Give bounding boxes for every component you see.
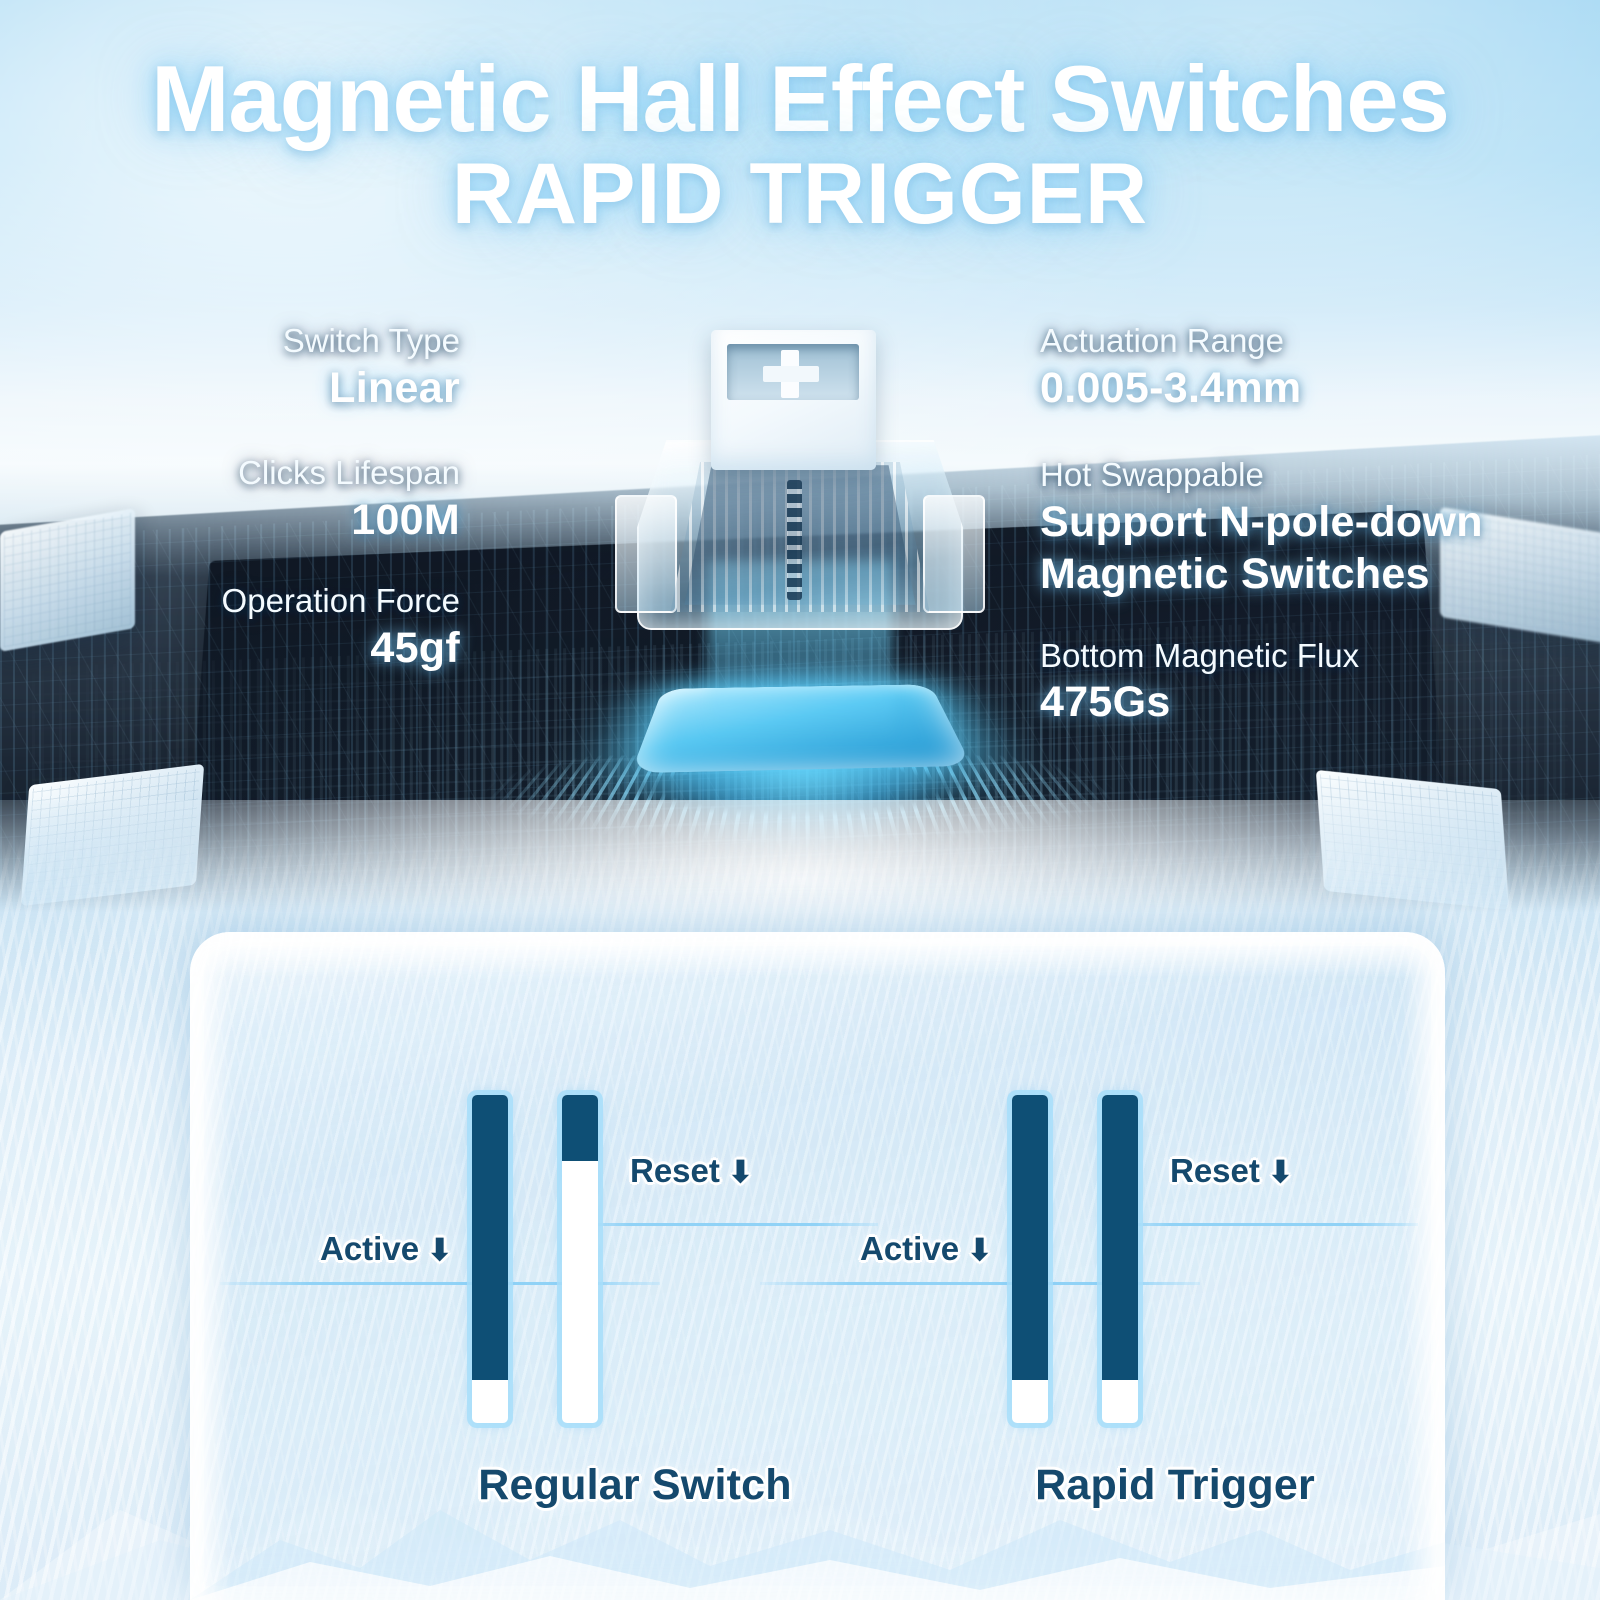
spec-label: Actuation Range [1040,320,1580,362]
bar-fill [1012,1095,1048,1380]
switch-stem-cross-horizontal [763,366,819,382]
reset-level-label-rapid: Reset⬇ [1170,1152,1293,1190]
active-label-text: Active [320,1230,419,1267]
group-title-regular-switch: Regular Switch [420,1461,850,1510]
active-level-label-rapid: Active⬇ [860,1230,992,1268]
chart-group-regular-switch: Active⬇ Reset⬇ Regular Switch [420,932,850,1600]
page-title: Magnetic Hall Effect Switches RAPID TRIG… [0,52,1600,241]
spec-label: Operation Force [30,580,460,622]
switch-housing-wing-left [615,495,677,613]
spec-operation-force: Operation Force 45gf [30,580,460,674]
group-title-rapid-trigger: Rapid Trigger [960,1461,1390,1510]
spec-value: 475Gs [1040,676,1580,728]
active-level-label-regular: Active⬇ [320,1230,452,1268]
active-label-text: Active [860,1230,959,1267]
bar-fill [562,1095,598,1161]
reset-label-text: Reset [1170,1152,1260,1189]
reset-label-text: Reset [630,1152,720,1189]
title-line-2: RAPID TRIGGER [0,148,1600,241]
hall-effect-switch [615,330,985,660]
spec-label: Clicks Lifespan [30,452,460,494]
chart-area: Active⬇ Reset⬇ Regular Switch Active⬇ [190,932,1445,1600]
bar-fill [1102,1095,1138,1380]
spec-actuation-range: Actuation Range 0.005-3.4mm [1040,320,1580,414]
arrow-down-icon: ⬇ [967,1234,992,1267]
spec-label: Hot Swappable [1040,454,1580,496]
spec-value: 0.005-3.4mm [1040,362,1580,414]
reset-level-label-regular: Reset⬇ [630,1152,753,1190]
spec-clicks-lifespan: Clicks Lifespan 100M [30,452,460,546]
spec-value: Linear [30,362,460,414]
spec-label: Bottom Magnetic Flux [1040,635,1580,677]
arrow-down-icon: ⬇ [427,1234,452,1267]
spec-list-left: Switch Type Linear Clicks Lifespan 100M … [30,320,460,700]
bar-regular-release [562,1095,598,1423]
spec-list-right: Actuation Range 0.005-3.4mm Hot Swappabl… [1040,320,1580,755]
spec-value: 45gf [30,622,460,674]
reset-level-line-rapid [1108,1223,1418,1226]
arrow-down-icon: ⬇ [728,1156,753,1189]
title-line-1: Magnetic Hall Effect Switches [0,52,1600,146]
spec-bottom-magnetic-flux: Bottom Magnetic Flux 475Gs [1040,635,1580,729]
chart-group-rapid-trigger: Active⬇ Reset⬇ Rapid Trigger [960,932,1390,1600]
arrow-down-icon: ⬇ [1268,1156,1293,1189]
comparison-ice-panel: Active⬇ Reset⬇ Regular Switch Active⬇ [190,932,1445,1600]
reset-level-line-regular [568,1223,878,1226]
bar-fill [472,1095,508,1380]
bar-rapid-release [1102,1095,1138,1423]
spec-value: Support N-pole-down Magnetic Switches [1040,496,1580,601]
bar-rapid-press [1012,1095,1048,1423]
switch-housing-wing-right [923,495,985,613]
spec-switch-type: Switch Type Linear [30,320,460,414]
switch-contact-pins [787,480,802,600]
spec-value: 100M [30,494,460,546]
spec-hot-swappable: Hot Swappable Support N-pole-down Magnet… [1040,454,1580,600]
bar-regular-press [472,1095,508,1423]
spec-label: Switch Type [30,320,460,362]
